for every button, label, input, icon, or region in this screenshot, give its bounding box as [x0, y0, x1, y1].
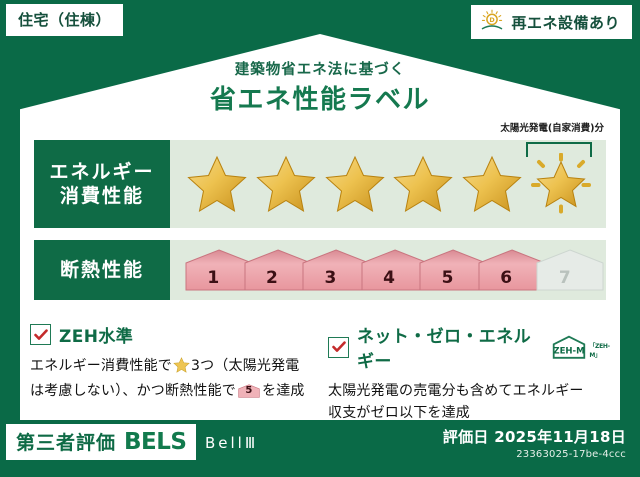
- zeh-body-part1: エネルギー消費性能で: [30, 358, 172, 374]
- inline-grade-value: 5: [238, 383, 260, 399]
- grade-value: 1: [207, 268, 219, 292]
- criteria-nze-body: 太陽光発電の売電分も含めてエネルギー 収支がゼロ以下を達成: [328, 381, 618, 424]
- bels-logo-text: BELS: [124, 429, 186, 455]
- nze-body-line1: 太陽光発電の売電分も含めてエネルギー: [328, 383, 584, 399]
- grade-badge-inactive: 7: [535, 248, 594, 292]
- checkbox-checked-icon: [30, 324, 51, 345]
- star-icon: [253, 151, 319, 217]
- zeh-m-caption: 「ZEH-M」: [589, 341, 618, 361]
- zeh-body-part3: を達成: [262, 383, 305, 399]
- criteria-zeh-body: エネルギー消費性能で3つ（太陽光発電 は考慮しない）、かつ断熱性能で5を達成: [30, 356, 310, 402]
- label-title: 省エネ性能ラベル: [0, 79, 640, 116]
- grade-badge: 5: [418, 248, 477, 292]
- energy-performance-body: 太陽光発電(自家消費)分: [170, 140, 606, 228]
- building-type-label: 住宅（住棟）: [18, 11, 111, 29]
- star-icon: [459, 151, 525, 217]
- grade-badge: 3: [301, 248, 360, 292]
- grade-badge: 2: [243, 248, 302, 292]
- solar-sun-icon: D: [479, 9, 505, 35]
- criteria-nze-title: ネット・ゼロ・エネルギー: [357, 322, 545, 372]
- zeh-m-logo: ZEH-M 「ZEH-M」: [551, 333, 618, 361]
- third-party-eval-label: 第三者評価: [16, 428, 116, 455]
- grade-value: 5: [442, 268, 454, 292]
- bels-certification-box: 第三者評価 BELS: [6, 424, 196, 460]
- renewable-equipment-tag: D 再エネ設備あり: [471, 5, 632, 39]
- bell-rank-label: BellⅢ: [205, 434, 258, 452]
- inline-star-icon: [173, 357, 190, 381]
- criteria-zeh: ZEH水準 エネルギー消費性能で3つ（太陽光発電 は考慮しない）、かつ断熱性能で…: [30, 322, 310, 402]
- svg-text:ZEH-M: ZEH-M: [554, 346, 585, 356]
- solar-star-icon: [528, 151, 594, 217]
- grade-value: 4: [383, 268, 395, 292]
- criteria-zeh-title: ZEH水準: [59, 322, 133, 347]
- criteria-net-zero-energy: ネット・ゼロ・エネルギー ZEH-M 「ZEH-M」 太陽光発電の売電分も含めて…: [328, 322, 618, 424]
- renewable-equipment-label: 再エネ設備あり: [511, 12, 620, 33]
- svg-text:D: D: [490, 16, 495, 24]
- grade-badge: 6: [477, 248, 536, 292]
- energy-performance-row: エネルギー 消費性能 太陽光発電(自家消費)分: [34, 140, 606, 228]
- insulation-performance-body: 1 2 3 4 5: [170, 240, 606, 300]
- star-icon: [322, 151, 388, 217]
- label-board: 住宅（住棟） D 再エネ設備あり 建築物省エネ法に基づく 省: [0, 0, 640, 477]
- inline-grade-badge: 5: [238, 383, 260, 399]
- energy-label-line1: エネルギー: [49, 160, 154, 184]
- grade-value: 6: [500, 268, 512, 292]
- nze-body-line2: 収支がゼロ以下を達成: [328, 405, 470, 421]
- zeh-body-part2: は考慮しない）、かつ断熱性能で: [30, 383, 236, 399]
- grade-badge: 1: [184, 248, 243, 292]
- insulation-performance-label: 断熱性能: [34, 240, 170, 300]
- evaluation-date: 評価日 2025年11月18日: [443, 426, 626, 447]
- insulation-performance-row: 断熱性能 1 2 3 4: [34, 240, 606, 300]
- evaluation-id: 23363025-17be-4ccc: [516, 449, 626, 460]
- checkbox-checked-icon: [328, 337, 349, 358]
- star-icon: [184, 151, 250, 217]
- energy-performance-label: エネルギー 消費性能: [34, 140, 170, 228]
- building-type-tag: 住宅（住棟）: [6, 4, 123, 36]
- star-icon: [390, 151, 456, 217]
- grade-value: 7: [559, 268, 571, 292]
- label-subtitle: 建築物省エネ法に基づく: [0, 58, 640, 79]
- criteria-zeh-header: ZEH水準: [30, 322, 310, 347]
- zeh-body-star-text: 3つ（太陽光発電: [191, 358, 300, 374]
- footer-bar: 第三者評価 BELS BellⅢ 評価日 2025年11月18日 2336302…: [0, 420, 640, 477]
- grade-value: 2: [266, 268, 278, 292]
- energy-label-line2: 消費性能: [60, 184, 144, 208]
- criteria-nze-header: ネット・ゼロ・エネルギー ZEH-M 「ZEH-M」: [328, 322, 618, 372]
- insulation-label-line1: 断熱性能: [60, 258, 144, 282]
- grade-value: 3: [325, 268, 337, 292]
- grade-badge: 4: [360, 248, 419, 292]
- solar-bracket-icon: [526, 142, 592, 157]
- insulation-grade-scale: 1 2 3 4 5: [180, 240, 598, 300]
- solar-self-consumption-note: 太陽光発電(自家消費)分: [500, 120, 604, 134]
